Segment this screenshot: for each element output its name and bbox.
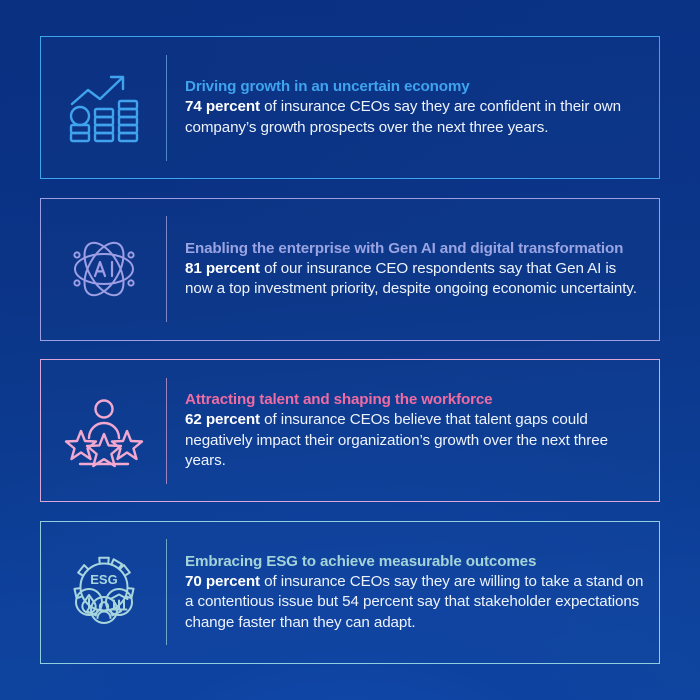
card-divider: [166, 539, 167, 645]
stat-card-driving-growth: Driving growth in an uncertain economy 7…: [40, 36, 660, 179]
card-text: 81 percent of our insurance CEO responde…: [185, 259, 645, 300]
card-divider: [166, 55, 167, 161]
card-stat: 62 percent: [185, 411, 260, 428]
card-body: Attracting talent and shaping the workfo…: [167, 390, 659, 472]
card-body: Embracing ESG to achieve measurable outc…: [167, 552, 659, 634]
ai-atom-icon: [41, 199, 166, 340]
card-body: Enabling the enterprise with Gen AI and …: [167, 239, 659, 300]
person-stars-talent-icon: [41, 360, 166, 501]
card-text: 62 percent of insurance CEOs believe tha…: [185, 410, 645, 471]
card-text: 70 percent of insurance CEOs say they ar…: [185, 572, 645, 633]
card-stat: 70 percent: [185, 573, 260, 590]
svg-text:ESG: ESG: [90, 572, 117, 587]
esg-gear-icon: ESG: [41, 522, 166, 663]
card-title: Embracing ESG to achieve measurable outc…: [185, 552, 645, 571]
card-divider: [166, 378, 167, 484]
card-text: 74 percent of insurance CEOs say they ar…: [185, 97, 645, 138]
insurance-ceo-outlook-infographic: Driving growth in an uncertain economy 7…: [0, 0, 700, 700]
card-divider: [166, 216, 167, 322]
growth-chart-coins-icon: [41, 37, 166, 178]
card-stat: 81 percent: [185, 260, 260, 277]
card-title: Enabling the enterprise with Gen AI and …: [185, 239, 645, 258]
card-stat: 74 percent: [185, 98, 260, 115]
stat-card-enabling-enterprise-gen-ai: Enabling the enterprise with Gen AI and …: [40, 198, 660, 341]
card-title: Driving growth in an uncertain economy: [185, 77, 645, 96]
card-title: Attracting talent and shaping the workfo…: [185, 390, 645, 409]
stat-card-embracing-esg: ESG Embracing ESG to achieve: [40, 521, 660, 664]
stat-card-attracting-talent: Attracting talent and shaping the workfo…: [40, 359, 660, 502]
card-body: Driving growth in an uncertain economy 7…: [167, 77, 659, 138]
